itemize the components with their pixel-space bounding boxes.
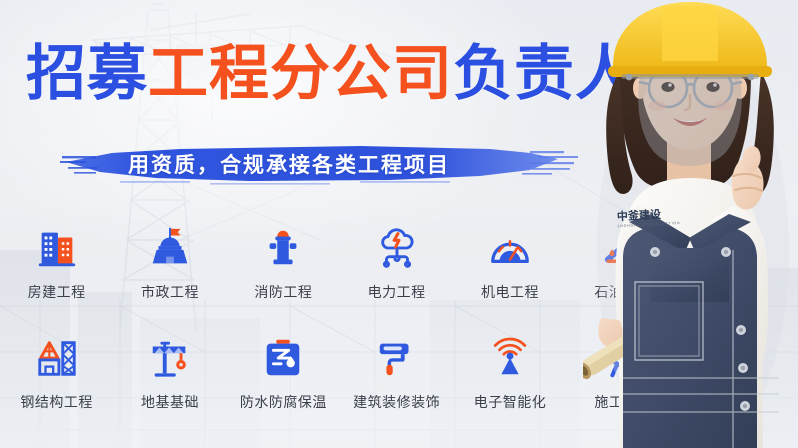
buildings-icon bbox=[31, 222, 83, 274]
service-label: 机电工程 bbox=[481, 282, 539, 302]
service-item-shizheng[interactable]: 市政工程 bbox=[113, 218, 226, 328]
shirt-logo-text: 中釜建设 bbox=[617, 208, 662, 221]
power-cloud-icon bbox=[371, 222, 423, 274]
service-label: 消防工程 bbox=[254, 282, 312, 302]
service-label: 建筑装修装饰 bbox=[353, 392, 440, 412]
service-item-dianli[interactable]: 电力工程 bbox=[340, 218, 453, 328]
service-grid: 房建工程 市政工程 bbox=[0, 218, 680, 438]
service-item-zhuangxiu[interactable]: 建筑装修装饰 bbox=[340, 328, 453, 438]
recruitment-banner: 招募工程分公司负责人 bbox=[0, 0, 798, 448]
headline-part-2: 工程分公司 bbox=[148, 39, 453, 109]
service-item-xiaofang[interactable]: 消防工程 bbox=[227, 218, 340, 328]
fire-hydrant-icon bbox=[257, 222, 309, 274]
service-item-dianzi[interactable]: 电子智能化 bbox=[453, 328, 566, 438]
service-item-dijijichu[interactable]: 地基基础 bbox=[113, 328, 226, 438]
gauge-icon bbox=[484, 222, 536, 274]
service-label: 电子智能化 bbox=[474, 392, 547, 412]
service-item-fangshui[interactable]: 防水防腐保温 bbox=[227, 328, 340, 438]
headline: 招募工程分公司负责人 bbox=[26, 44, 636, 104]
service-label: 电力工程 bbox=[368, 282, 426, 302]
subtitle-text: 用资质，合规承接各类工程项目 bbox=[128, 149, 450, 179]
worker-photo: 中釜建设 ZHONGFU CONSTRUCTION bbox=[583, 0, 798, 448]
service-label: 房建工程 bbox=[28, 282, 86, 302]
service-item-fangjian[interactable]: 房建工程 bbox=[0, 218, 113, 328]
subtitle-brush-banner: 用资质，合规承接各类工程项目 bbox=[60, 140, 580, 188]
signal-tower-icon bbox=[484, 332, 536, 384]
service-item-jidian[interactable]: 机电工程 bbox=[453, 218, 566, 328]
service-label: 市政工程 bbox=[141, 282, 199, 302]
steel-structure-icon bbox=[31, 332, 83, 384]
shirt-logo: 中釜建设 ZHONGFU CONSTRUCTION bbox=[616, 204, 703, 230]
service-label: 防水防腐保温 bbox=[240, 392, 327, 412]
paint-roller-icon bbox=[371, 332, 423, 384]
service-label: 钢结构工程 bbox=[20, 392, 93, 412]
headline-part-1: 招募 bbox=[26, 39, 148, 109]
service-label: 地基基础 bbox=[141, 392, 199, 412]
crane-icon bbox=[144, 332, 196, 384]
service-item-gangjiegou[interactable]: 钢结构工程 bbox=[0, 328, 113, 438]
civic-building-icon bbox=[144, 222, 196, 274]
waterproof-can-icon bbox=[257, 332, 309, 384]
